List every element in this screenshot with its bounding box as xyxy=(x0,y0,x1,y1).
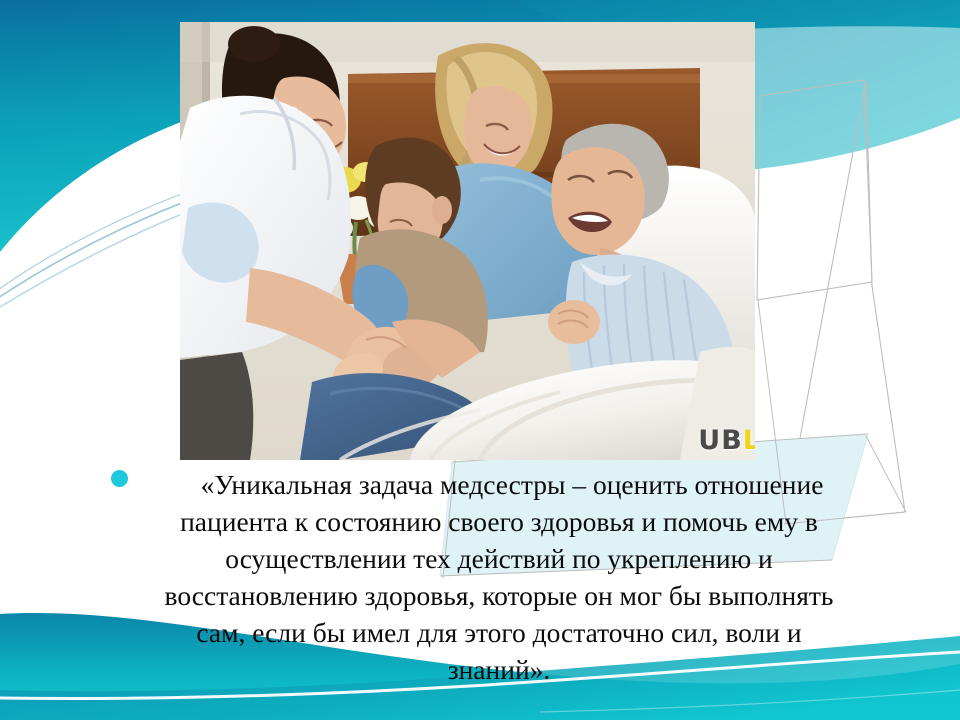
quote-line-text: пациента к состоянию своего здоровья и п… xyxy=(180,506,818,537)
quote-line-text: знаний». xyxy=(448,654,551,685)
photo-watermark: UBL xyxy=(698,427,755,454)
nurse-family-patient-photo: UBL xyxy=(180,22,755,460)
watermark-accent: L xyxy=(743,425,755,456)
quote-text-block: «Уникальная задача медсестры – оценить о… xyxy=(104,466,894,688)
quote-line: осуществлении тех действий по укреплению… xyxy=(104,540,894,577)
watermark-text: UB xyxy=(698,425,743,456)
quote-line: восстановлению здоровья, которые он мог … xyxy=(104,577,894,614)
quote-line: сам, если бы имел для этого достаточно с… xyxy=(104,614,894,651)
quote-line: знаний». xyxy=(104,651,894,688)
quote-line-text: сам, если бы имел для этого достаточно с… xyxy=(196,617,801,648)
quote-line-text: «Уникальная задача медсестры – оценить о… xyxy=(201,469,824,500)
quote-line-text: осуществлении тех действий по укреплению… xyxy=(225,543,772,574)
quote-line: пациента к состоянию своего здоровья и п… xyxy=(104,503,894,540)
quote-line: «Уникальная задача медсестры – оценить о… xyxy=(104,466,894,503)
quote-line-text: восстановлению здоровья, которые он мог … xyxy=(165,580,834,611)
presentation-slide: UBL «Уникальная задача медсестры – оцени… xyxy=(0,0,960,720)
